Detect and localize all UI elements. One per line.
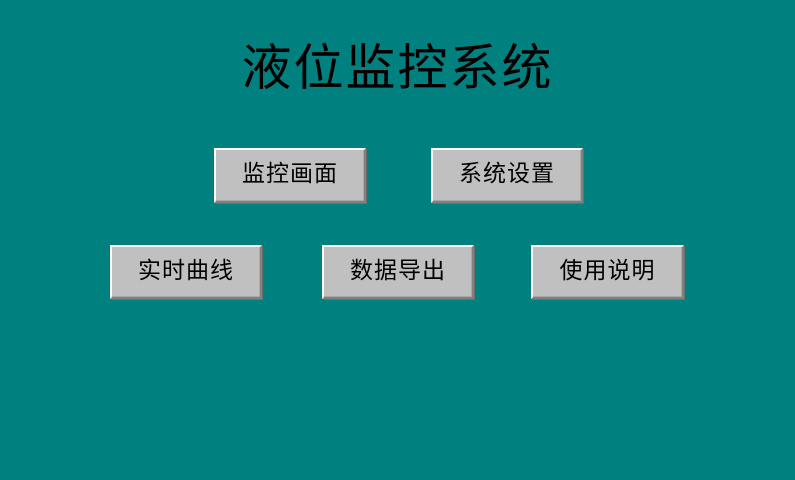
menu-button-monitor-screen-label: 监控画面	[242, 163, 338, 186]
menu-button-instructions-label: 使用说明	[560, 260, 656, 283]
menu-button-system-settings[interactable]: 系统设置	[431, 148, 583, 203]
menu-button-monitor-screen[interactable]: 监控画面	[214, 148, 366, 203]
menu-button-data-export-label: 数据导出	[350, 260, 446, 283]
menu-button-data-export[interactable]: 数据导出	[322, 245, 474, 299]
menu-button-realtime-curve-label: 实时曲线	[138, 260, 234, 283]
menu-button-instructions[interactable]: 使用说明	[531, 245, 684, 299]
menu-button-realtime-curve[interactable]: 实时曲线	[110, 245, 262, 299]
menu-button-system-settings-label: 系统设置	[459, 163, 555, 186]
page-title: 液位监控系统	[0, 38, 795, 98]
main-window: 液位监控系统 监控画面 系统设置 实时曲线 数据导出 使用说明	[0, 0, 795, 480]
